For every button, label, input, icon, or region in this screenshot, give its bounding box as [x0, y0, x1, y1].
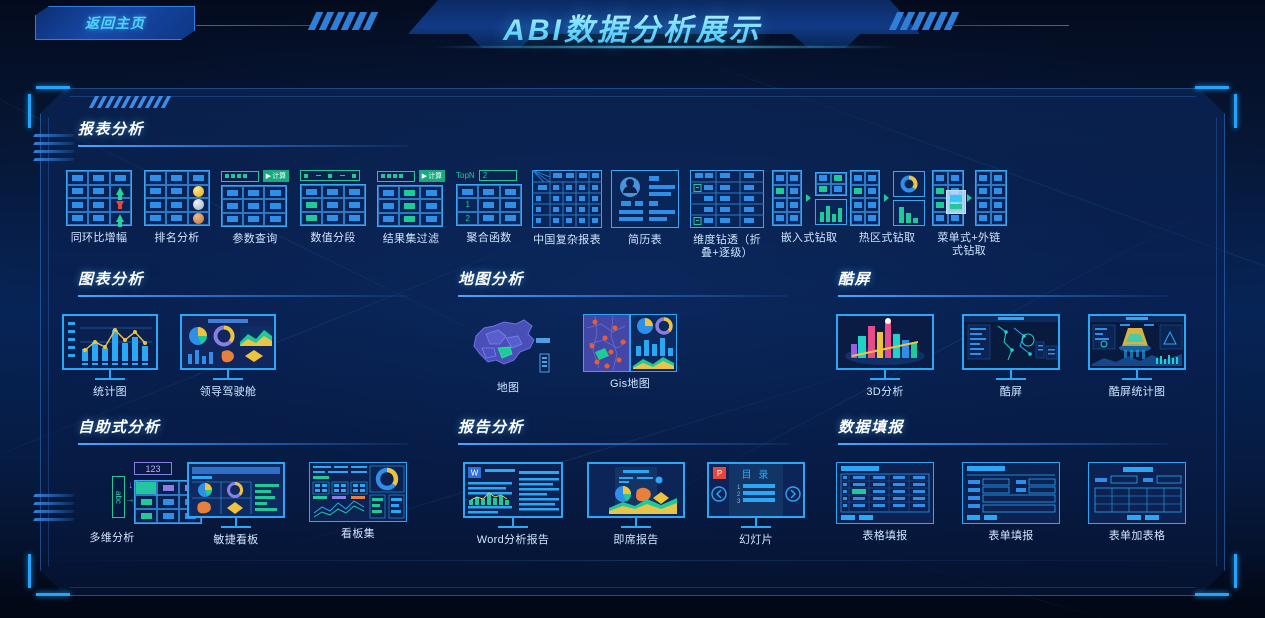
topn-toolbar: TopN 2 [456, 170, 522, 181]
tile-grid-entry[interactable]: 表格填报 [835, 462, 935, 543]
tile-label: 3D分析 [866, 386, 903, 399]
tile-label: 排名分析 [154, 232, 199, 245]
tile-value-segment[interactable]: 数值分段 [294, 170, 372, 260]
tile-hotspot-drill[interactable]: 热区式钻取 [848, 170, 926, 260]
slideshow-icon: P 目 录 123 [707, 462, 805, 528]
tile-ranking-analysis[interactable]: 排名分析 [138, 170, 216, 260]
text-field-badge: abc [112, 476, 125, 518]
tile-label: 嵌入式钻取 [781, 232, 838, 245]
table-aggregate-icon: TopN 2 1 2 [456, 170, 522, 226]
panel-top-hatch-decor [92, 96, 182, 110]
tile-dimension-drill[interactable]: 维度钻透（折 叠+逐级） [684, 170, 770, 260]
resume-table-icon [611, 170, 679, 228]
tile-label: 领导驾驶舱 [200, 386, 257, 399]
band-report-analysis: 报表分析 同环比增幅 [60, 118, 1210, 268]
section-header-self-service: 自助式分析 [78, 416, 408, 445]
section-rule [838, 295, 1168, 297]
section-title: 报表分析 [78, 118, 408, 139]
tile-label: Gis地图 [610, 378, 650, 391]
header-right-slashes [865, 12, 955, 32]
tile-label: 表单加表格 [1109, 530, 1166, 543]
calc-button: ▶计算 [263, 170, 289, 182]
segment-toolbar [300, 170, 366, 181]
tile-label: 看板集 [341, 528, 375, 541]
menu-external-drill-icon [932, 170, 1007, 226]
tile-aggregate-function[interactable]: TopN 2 1 2 聚合函数 [450, 170, 528, 260]
section-rule [78, 145, 408, 147]
agile-dashboard-icon [187, 462, 285, 528]
tile-row-data-entry: 表格填报 [835, 462, 1187, 543]
china-map-icon [462, 314, 554, 376]
tile-label: Word分析报告 [477, 534, 549, 547]
section-title: 报告分析 [458, 416, 788, 437]
tile-agile-dashboard[interactable]: 敏捷看板 [186, 462, 286, 547]
tile-adhoc-report[interactable]: 即席报告 [586, 462, 686, 547]
section-header-data-entry: 数据填报 [838, 416, 1168, 445]
band-selfservice-report-entry: 自助式分析 123 abc ↓ → [60, 416, 1210, 566]
dashboard-set-icon [309, 462, 407, 522]
page-header: 返回主页 ABI数据分析展示 [0, 0, 1265, 58]
tile-cool-screen-chart[interactable]: 酷屏统计图 [1087, 314, 1187, 399]
tile-word-report[interactable]: W Word分析报告 [460, 462, 566, 547]
cool-screen-chart-icon [1088, 314, 1186, 380]
tile-slideshow[interactable]: P 目 录 123 幻灯片 [706, 462, 806, 547]
topn-value: 2 [483, 171, 487, 180]
cool-screen-icon [962, 314, 1060, 380]
tile-resultset-filter[interactable]: ▶计算 结果集过滤 [372, 170, 450, 260]
table-resultset-filter-icon: ▶计算 [377, 170, 445, 227]
gis-map-icon [583, 314, 677, 372]
section-rule [78, 295, 408, 297]
tile-label: 中国复杂报表 [533, 234, 601, 247]
tile-label: 地图 [497, 382, 520, 395]
tile-form-plus-grid[interactable]: 表单加表格 [1087, 462, 1187, 543]
tile-embedded-drill[interactable]: 嵌入式钻取 [770, 170, 848, 260]
tile-label: 酷屏 [1000, 386, 1023, 399]
segment-range-field [300, 170, 360, 181]
tile-row-report-document: W Word分析报告 [460, 462, 806, 547]
title-underline [430, 46, 900, 48]
tile-china-map[interactable]: 地图 [460, 314, 556, 395]
param-query-toolbar: ▶计算 [221, 170, 289, 182]
3d-analysis-icon [836, 314, 934, 380]
table-value-segment-icon [300, 170, 366, 226]
topn-input[interactable]: 2 [479, 170, 517, 181]
tile-label: 同环比增幅 [71, 232, 128, 245]
tile-3d-analysis[interactable]: 3D分析 [835, 314, 935, 399]
form-plus-grid-icon [1088, 462, 1186, 524]
dimension-drill-icon [690, 170, 764, 228]
tile-dashboard-set[interactable]: 看板集 [308, 462, 408, 547]
section-rule [458, 443, 788, 445]
section-rule [78, 443, 408, 445]
tile-label: 维度钻透（折 叠+逐级） [693, 234, 761, 260]
table-rank-icon [144, 170, 210, 226]
svg-text:P: P [717, 469, 722, 478]
filter-toolbar: ▶计算 [377, 170, 445, 182]
table-param-query-icon: ▶计算 [221, 170, 289, 227]
tile-complex-report[interactable]: 中国复杂报表 [528, 170, 606, 260]
tile-label: 热区式钻取 [859, 232, 916, 245]
tile-row-map-analysis: 地图 [460, 314, 678, 395]
word-report-icon: W [463, 462, 563, 528]
tile-executive-cockpit[interactable]: 领导驾驶舱 [178, 314, 278, 399]
tile-label: 简历表 [628, 234, 662, 247]
tile-menu-external-drill[interactable]: 菜单式+外链 式钻取 [926, 170, 1012, 260]
header-right-connector [951, 25, 1069, 26]
tile-label: 多维分析 [89, 532, 134, 545]
tile-label: 敏捷看板 [213, 534, 258, 547]
section-rule [458, 295, 788, 297]
content-grid: 报表分析 同环比增幅 [60, 118, 1210, 568]
band-chart-map-coolscreen: 图表分析 [60, 268, 1210, 416]
section-header-map-analysis: 地图分析 [458, 268, 788, 297]
table-trend-icon [66, 170, 132, 226]
tile-tongbihuanbi[interactable]: 同环比增幅 [60, 170, 138, 260]
complex-report-icon [532, 170, 602, 228]
tile-multidimensional-analysis[interactable]: 123 abc ↓ → 多维分析 [60, 462, 164, 547]
form-entry-icon [962, 462, 1060, 524]
section-header-report-analysis: 报表分析 [78, 118, 408, 147]
section-header-chart-analysis: 图表分析 [78, 268, 408, 297]
param-input [221, 171, 259, 182]
tile-statistics-chart[interactable]: 统计图 [60, 314, 160, 399]
tile-row-chart-analysis: 统计图 [60, 314, 278, 399]
page-title: ABI数据分析展示 [0, 5, 1265, 49]
tile-gis-map[interactable]: Gis地图 [582, 314, 678, 395]
tile-resume-table[interactable]: 简历表 [606, 170, 684, 260]
svg-text:目 录: 目 录 [742, 469, 771, 481]
tile-label: 统计图 [93, 386, 127, 399]
calc-button: ▶计算 [419, 170, 445, 182]
tile-label: 聚合函数 [466, 232, 511, 245]
tile-label: 表单填报 [988, 530, 1033, 543]
tile-label: 酷屏统计图 [1109, 386, 1166, 399]
section-header-cool-screen: 酷屏 [838, 268, 1168, 297]
embedded-drill-icon [772, 170, 847, 226]
section-title: 酷屏 [838, 268, 1168, 289]
topn-label: TopN [456, 171, 475, 180]
executive-cockpit-icon [180, 314, 276, 380]
svg-text:W: W [471, 469, 479, 478]
section-title: 地图分析 [458, 268, 788, 289]
section-header-report-document: 报告分析 [458, 416, 788, 445]
statistics-chart-icon [62, 314, 158, 380]
filter-input [377, 171, 415, 182]
adhoc-report-icon [587, 462, 685, 528]
section-rule [838, 443, 1168, 445]
tile-label: 结果集过滤 [383, 233, 440, 246]
hotspot-drill-icon [850, 170, 925, 226]
tile-label: 参数查询 [232, 233, 277, 246]
number-field-badge: 123 [134, 462, 172, 475]
tile-cool-screen[interactable]: 酷屏 [961, 314, 1061, 399]
section-title: 自助式分析 [78, 416, 408, 437]
tile-label: 即席报告 [613, 534, 658, 547]
section-title: 数据填报 [838, 416, 1168, 437]
tile-label: 菜单式+外链 式钻取 [937, 232, 1000, 258]
tile-label: 表格填报 [862, 530, 907, 543]
tile-label: 数值分段 [310, 232, 355, 245]
tile-row-self-service: 123 abc ↓ → 多维分析 [60, 462, 408, 547]
tile-row-report-analysis: 同环比增幅 排名分析 [60, 170, 1012, 260]
tile-row-cool-screen: 3D分析 [835, 314, 1187, 399]
tile-param-query[interactable]: ▶计算 参数查询 [216, 170, 294, 260]
grid-entry-icon [836, 462, 934, 524]
tile-label: 幻灯片 [739, 534, 773, 547]
tile-form-entry[interactable]: 表单填报 [961, 462, 1061, 543]
section-title: 图表分析 [78, 268, 408, 289]
